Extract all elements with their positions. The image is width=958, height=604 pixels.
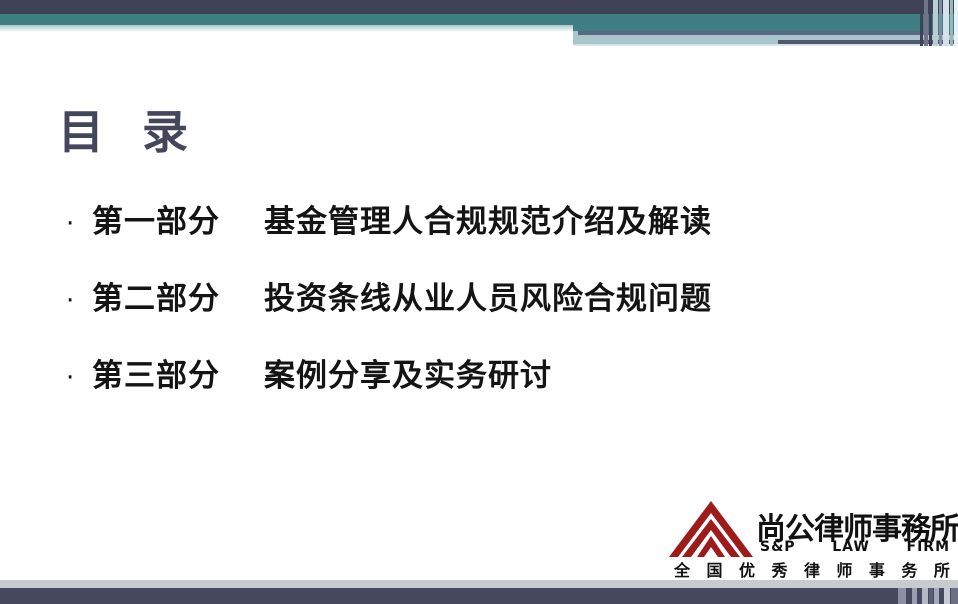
header-navy-band <box>0 0 958 14</box>
decorative-stripe <box>898 588 906 604</box>
logo-tagline: 全 国 优 秀 律 师 事 务 所 <box>674 557 950 581</box>
slide-canvas: 目 录 · 第一部分 基金管理人合规规范介绍及解读 · 第二部分 投资条线从业人… <box>0 0 958 604</box>
logo-tagline-char: 师 <box>836 557 852 581</box>
decorative-stripe <box>951 588 958 604</box>
decorative-stripe <box>924 0 928 46</box>
header-vertical-stripes <box>920 0 958 46</box>
logo-tagline-char: 所 <box>934 557 950 581</box>
toc-item-3[interactable]: · 第三部分 案例分享及实务研讨 <box>66 350 886 427</box>
bullet-icon: · <box>66 211 92 237</box>
toc-item-2[interactable]: · 第二部分 投资条线从业人员风险合规问题 <box>66 273 886 350</box>
bullet-icon: · <box>66 365 92 391</box>
bottom-decoration-band <box>0 580 958 604</box>
toc-item-part-label: 第三部分 <box>92 350 220 395</box>
header-pale-fade-left <box>0 25 573 32</box>
bullet-icon: · <box>66 288 92 314</box>
logo-latin-word: FIRM <box>907 539 950 555</box>
footer-navy-band <box>0 588 958 604</box>
logo-latin-line: S&P LAW FIRM <box>760 539 950 555</box>
nested-triangles-icon <box>668 500 754 558</box>
header-pale-fade-right <box>573 44 958 46</box>
firm-logo: 尚公律师事務所 S&P LAW FIRM 全 国 优 秀 律 师 事 务 所 <box>668 498 950 582</box>
decorative-stripe <box>912 588 917 604</box>
header-teal-band <box>0 14 958 25</box>
toc-item-title: 基金管理人合规规范介绍及解读 <box>264 196 712 241</box>
toc-item-part-label: 第一部分 <box>92 196 220 241</box>
footer-gray-band <box>0 580 958 588</box>
decorative-stripe <box>934 588 939 604</box>
logo-tagline-char: 事 <box>869 557 885 581</box>
decorative-stripe <box>933 0 938 46</box>
toc-item-title: 案例分享及实务研讨 <box>264 350 552 395</box>
decorative-stripe <box>939 0 942 46</box>
header-rule-upper <box>578 31 958 35</box>
decorative-stripe <box>944 588 950 604</box>
decorative-stripe <box>920 0 923 46</box>
decorative-stripe <box>940 588 943 604</box>
decorative-stripe <box>943 0 949 46</box>
toc-item-part-label: 第二部分 <box>92 273 220 318</box>
logo-tagline-char: 全 <box>674 557 690 581</box>
footer-vertical-stripes <box>898 588 958 604</box>
decorative-stripe <box>929 588 933 604</box>
decorative-stripe <box>922 588 928 604</box>
logo-tagline-char: 国 <box>706 557 722 581</box>
toc-item-1[interactable]: · 第一部分 基金管理人合规规范介绍及解读 <box>66 196 886 273</box>
decorative-stripe <box>950 0 953 46</box>
logo-latin-word: S&P <box>760 539 796 555</box>
decorative-stripe <box>907 588 911 604</box>
logo-tagline-char: 律 <box>804 557 820 581</box>
decorative-stripe <box>954 0 958 46</box>
toc-item-title: 投资条线从业人员风险合规问题 <box>264 273 712 318</box>
page-title: 目 录 <box>58 96 190 162</box>
logo-tagline-char: 务 <box>901 557 917 581</box>
logo-tagline-char: 秀 <box>771 557 787 581</box>
toc-list: · 第一部分 基金管理人合规规范介绍及解读 · 第二部分 投资条线从业人员风险合… <box>66 196 886 427</box>
logo-latin-word: LAW <box>832 539 870 555</box>
decorative-stripe <box>929 0 932 46</box>
top-decoration-band <box>0 0 958 46</box>
logo-tagline-char: 优 <box>739 557 755 581</box>
decorative-stripe <box>918 588 921 604</box>
